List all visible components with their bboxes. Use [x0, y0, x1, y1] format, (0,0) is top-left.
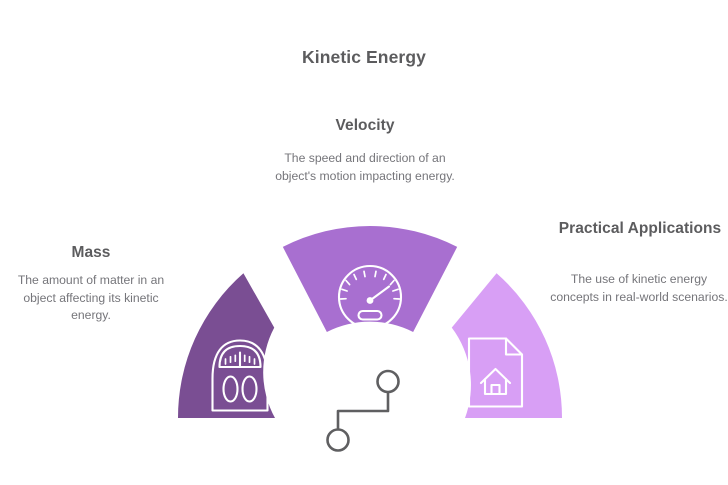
connector-node-bottom[interactable] [328, 430, 349, 451]
connector-elbow-line [338, 392, 388, 430]
section-description-mass: The amount of matter in an object affect… [2, 272, 180, 325]
section-heading-mass: Mass [8, 243, 174, 263]
section-heading-velocity: Velocity [272, 116, 458, 136]
connector-node-top[interactable] [378, 371, 399, 392]
section-description-velocity: The speed and direction of an object's m… [266, 150, 464, 185]
arc-segment-mass[interactable] [178, 273, 275, 418]
page-title: Kinetic Energy [0, 47, 728, 68]
connector-decoration [328, 371, 399, 451]
semicircle-arc-graphic [156, 212, 586, 462]
infographic-canvas: Kinetic Energy Mass The amount of matter… [0, 0, 728, 485]
arc-segment-velocity[interactable] [283, 226, 457, 332]
